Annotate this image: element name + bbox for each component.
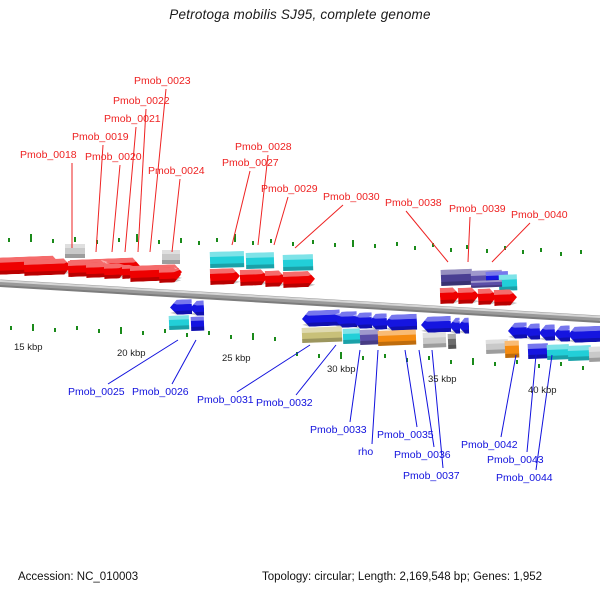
genome-map-viewer: Petrotoga mobilis SJ95, complete genome … [0,0,600,600]
rna-tick-lower [318,354,320,358]
leader-line [125,127,136,252]
rna-tick-lower [296,352,298,356]
scale-label-15-kbp: 15 kbp [14,342,43,353]
gene-label-pmob_0030[interactable]: Pmob_0030 [323,192,380,203]
cds-box[interactable] [448,334,457,349]
gene-fwd[interactable] [283,271,316,288]
gene-rev[interactable] [568,326,600,343]
gene-label-pmob_0043[interactable]: Pmob_0043 [487,455,544,466]
leader-line [406,211,448,262]
feature-highlight [505,340,519,346]
rna-tick-lower [516,360,518,364]
gene-label-pmob_0038[interactable]: Pmob_0038 [385,198,442,209]
cds-box[interactable] [210,251,244,268]
rna-tick-upper [432,243,434,247]
rna-tick-lower [274,337,276,341]
rna-tick-upper [96,240,98,244]
feature-shadow [169,326,189,330]
feature-shadow [170,310,192,315]
gene-fwd[interactable] [159,267,182,283]
rna-tick-upper [560,252,562,256]
feature-highlight [589,347,600,352]
rna-tick-upper [352,240,354,247]
gene-label-rho[interactable]: rho [358,447,373,458]
rna-tick-lower [560,362,562,366]
rna-tick-lower [32,324,34,331]
feature-shadow [494,301,517,306]
leader-line [108,340,178,384]
cds-box[interactable] [360,329,380,345]
feature-shadow [568,356,591,361]
leader-line [492,223,530,262]
cds-box[interactable] [162,250,180,264]
scale-label-25-kbp: 25 kbp [222,353,251,364]
feature-shadow [528,354,548,359]
rna-tick-upper [334,243,336,247]
feature-highlight [568,345,591,351]
cds-box[interactable] [528,343,549,359]
gene-label-pmob_0042[interactable]: Pmob_0042 [461,440,518,451]
rna-tick-upper [374,244,376,248]
cds-box[interactable] [423,332,447,348]
gene-label-pmob_0031[interactable]: Pmob_0031 [197,395,254,406]
rna-tick-upper [118,238,120,242]
scale-label-30-kbp: 30 kbp [327,364,356,375]
rna-tick-upper [8,238,10,242]
feature-shadow [547,355,569,360]
gene-label-pmob_0021[interactable]: Pmob_0021 [104,114,161,125]
feature-highlight [528,343,548,349]
rna-tick-upper [466,245,468,249]
gene-label-pmob_0027[interactable]: Pmob_0027 [222,158,279,169]
cds-box[interactable] [283,254,313,271]
rna-tick-upper [136,234,138,242]
leader-line [138,109,146,252]
gene-label-pmob_0023[interactable]: Pmob_0023 [134,76,191,87]
feature-shadow [378,341,416,346]
feature-highlight [448,334,456,339]
gene-label-pmob_0024[interactable]: Pmob_0024 [148,166,205,177]
rna-tick-upper [312,240,314,244]
feature-shadow [162,260,180,264]
feature-highlight [423,332,446,338]
gene-rev[interactable] [421,316,452,333]
rna-tick-lower [186,333,188,337]
feature-highlight [191,317,204,322]
gene-label-pmob_0025[interactable]: Pmob_0025 [68,387,125,398]
rna-tick-upper [252,241,254,245]
rna-tick-lower [450,360,452,364]
leader-line [527,355,536,452]
feature-shadow [458,299,479,304]
feature-shadow [589,358,600,362]
gene-label-pmob_0040[interactable]: Pmob_0040 [511,210,568,221]
gene-fwd[interactable] [24,258,72,276]
rna-tick-upper [396,242,398,246]
rna-tick-upper [270,239,272,243]
rna-tick-lower [252,333,254,340]
cds-box[interactable] [547,344,570,360]
cds-box[interactable] [343,328,361,344]
cds-box[interactable] [169,315,190,330]
gene-rev[interactable] [385,314,418,331]
rna-tick-upper [198,241,200,245]
feature-highlight [524,323,540,329]
feature-highlight [170,299,192,305]
rna-tick-lower [362,356,364,360]
gene-label-pmob_0028[interactable]: Pmob_0028 [235,142,292,153]
rna-tick-lower [538,364,540,368]
rna-tick-lower [142,331,144,335]
feature-shadow [191,327,204,331]
rna-tick-upper [216,238,218,242]
rna-tick-lower [472,358,474,365]
rna-tick-lower [76,326,78,330]
leader-line [274,197,288,245]
gene-label-pmob_0022[interactable]: Pmob_0022 [113,96,170,107]
feature-shadow [190,312,204,316]
rna-tick-lower [494,362,496,366]
rna-tick-upper [414,246,416,250]
leader-line [172,340,196,384]
gene-label-pmob_0020[interactable]: Pmob_0020 [85,152,142,163]
rna-tick-upper [540,248,542,252]
leader-line [350,350,360,422]
gene-label-pmob_0026[interactable]: Pmob_0026 [132,387,189,398]
cds-box[interactable] [246,252,274,269]
rna-tick-upper [158,240,160,244]
feature-shadow [302,338,342,343]
rna-tick-upper [486,249,488,253]
rna-tick-lower [428,356,430,360]
rna-tick-lower [164,329,166,333]
feature-shadow [505,353,519,358]
rna-tick-upper [450,248,452,252]
leader-line [536,355,552,470]
gene-rev[interactable] [458,318,470,334]
feature-highlight [283,254,313,260]
rna-tick-lower [384,354,386,358]
feature-shadow [423,343,446,348]
cds-box[interactable] [302,326,343,343]
feature-highlight [169,315,189,320]
gene-fwd[interactable] [458,287,480,304]
rna-tick-upper [180,238,182,243]
scale-label-40-kbp: 40 kbp [528,385,557,396]
feature-shadow [539,336,555,341]
gene-rev[interactable] [190,300,205,316]
gene-label-pmob_0044[interactable]: Pmob_0044 [496,473,553,484]
scale-label-20-kbp: 20 kbp [117,348,146,359]
rna-tick-lower [10,326,12,330]
rna-tick-upper [74,237,76,242]
cds-box[interactable] [378,330,417,346]
rna-tick-lower [98,329,100,333]
feature-shadow [441,281,472,286]
rna-tick-upper [522,250,524,254]
rna-tick-lower [54,328,56,332]
feature-shadow [65,254,85,258]
rna-tick-lower [406,358,408,362]
gene-label-pmob_0039[interactable]: Pmob_0039 [449,204,506,215]
cds-box[interactable] [191,317,205,331]
feature-highlight [190,300,204,305]
rna-tick-lower [230,335,232,339]
cds-box[interactable] [441,269,473,286]
feature-highlight [210,251,244,257]
feature-highlight [162,250,180,254]
feature-shadow [524,335,540,340]
feature-shadow [448,345,456,349]
gene-label-pmob_0036[interactable]: Pmob_0036 [394,450,451,461]
scale-label-35-kbp: 35 kbp [428,374,457,385]
rna-tick-upper [234,234,236,242]
leader-line [295,205,343,248]
page-title: Petrotoga mobilis SJ95, complete genome [0,7,600,22]
rna-tick-upper [292,242,294,246]
rna-tick-lower [340,352,342,359]
leader-line [501,355,516,437]
rna-tick-upper [52,239,54,243]
rna-tick-lower [208,331,210,335]
rna-tick-upper [30,234,32,242]
rna-tick-upper [580,250,582,254]
feature-highlight [343,328,360,333]
feature-highlight [458,318,469,324]
feature-highlight [65,244,85,248]
gene-fwd[interactable] [210,268,241,285]
feature-highlight [246,252,274,258]
gene-label-pmob_0033[interactable]: Pmob_0033 [310,425,367,436]
gene-label-pmob_0019[interactable]: Pmob_0019 [72,132,129,143]
accession-text: Accession: NC_010003 [18,571,138,583]
gene-label-pmob_0037[interactable]: Pmob_0037 [403,471,460,482]
rna-tick-upper [504,246,506,250]
gene-label-pmob_0032[interactable]: Pmob_0032 [256,398,313,409]
feature-highlight [360,329,379,335]
gene-label-pmob_0035[interactable]: Pmob_0035 [377,430,434,441]
cds-box[interactable] [505,340,520,358]
feature-highlight [539,324,555,330]
rna-tick-lower [582,366,584,370]
cds-box[interactable] [65,244,85,258]
gene-label-pmob_0029[interactable]: Pmob_0029 [261,184,318,195]
cds-box[interactable] [589,347,600,362]
feature-shadow [360,340,379,345]
feature-shadow [458,329,469,334]
genome-stats-text: Topology: circular; Length: 2,169,548 bp… [262,571,542,583]
gene-label-pmob_0018[interactable]: Pmob_0018 [20,150,77,161]
leader-line [468,217,470,262]
rna-tick-lower [120,327,122,334]
leader-line [172,179,180,252]
feature-highlight [547,344,569,350]
gene-fwd[interactable] [494,289,518,306]
feature-shadow [343,339,360,344]
